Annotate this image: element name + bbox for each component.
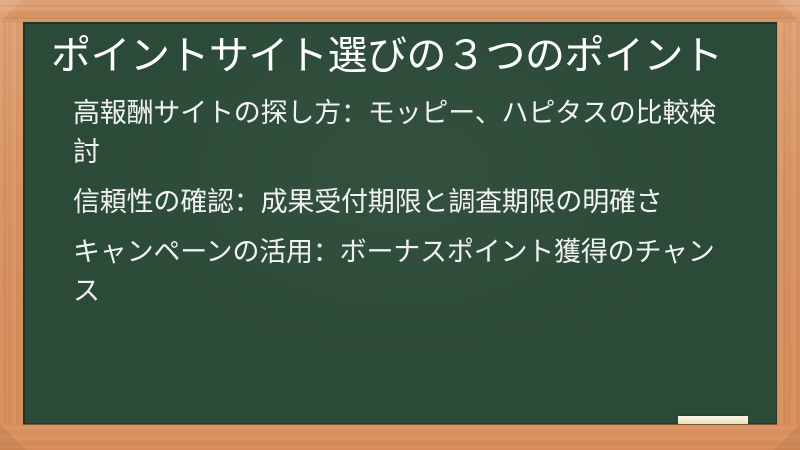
bullet-item-1: 高報酬サイトの探し方：モッピー、ハピタスの比較検討 (73, 94, 723, 172)
chalk-stick-icon (678, 416, 748, 424)
chalkboard-surface: ポイントサイト選びの３つのポイント 高報酬サイトの探し方：モッピー、ハピタスの比… (23, 22, 777, 424)
blackboard-slide: ポイントサイト選びの３つのポイント 高報酬サイトの探し方：モッピー、ハピタスの比… (0, 0, 800, 450)
frame-top-rail (0, 0, 800, 22)
bullet-item-3: キャンペーンの活用：ボーナスポイント獲得のチャンス (73, 233, 723, 311)
bullet-list: 高報酬サイトの探し方：モッピー、ハピタスの比較検討 信頼性の確認：成果受付期限と… (51, 94, 751, 311)
board-content: ポイントサイト選びの３つのポイント 高報酬サイトの探し方：モッピー、ハピタスの比… (23, 22, 777, 311)
frame-bottom-rail (0, 424, 800, 450)
slide-title: ポイントサイト選びの３つのポイント (51, 28, 751, 80)
bullet-item-2: 信頼性の確認：成果受付期限と調査期限の明確さ (73, 183, 723, 222)
